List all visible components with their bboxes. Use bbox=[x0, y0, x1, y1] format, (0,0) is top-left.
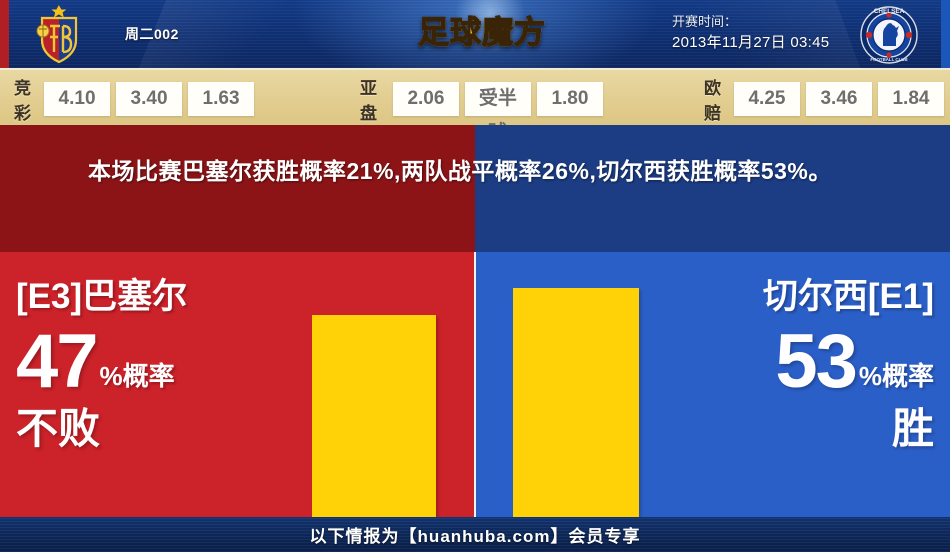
odds-cell-yapan-home[interactable]: 2.06 bbox=[393, 82, 459, 116]
left-percent-row: 47 %概率 bbox=[16, 324, 298, 400]
odds-cell-oupei-away[interactable]: 1.84 bbox=[878, 82, 944, 116]
svg-text:FOOTBALL CLUB: FOOTBALL CLUB bbox=[870, 57, 907, 62]
left-percent-suffix: %概率 bbox=[97, 359, 175, 400]
odds-cell-yapan-away[interactable]: 1.80 bbox=[537, 82, 603, 116]
header-bar: 周二002 足球魔方 开赛时间： 2013年11月27日 03:45 CHELS… bbox=[0, 0, 950, 68]
kickoff-label: 开赛时间： bbox=[672, 11, 829, 32]
summary-text: 本场比赛巴塞尔获胜概率21%,两队战平概率26%,切尔西获胜概率53%。 bbox=[88, 152, 888, 190]
right-team-block: 切尔西[E1] 53 %概率 胜 bbox=[652, 276, 934, 454]
odds-cell-jingcai-home[interactable]: 4.10 bbox=[44, 82, 110, 116]
odds-group-oupei: 欧赔 4.25 3.46 1.84 bbox=[704, 74, 950, 124]
bar-away-chelsea bbox=[513, 288, 639, 517]
kickoff-block: 开赛时间： 2013年11月27日 03:45 bbox=[672, 11, 829, 53]
header-right-blue-stripe bbox=[941, 0, 950, 68]
left-verdict: 不败 bbox=[16, 404, 298, 454]
brand-logo: 足球魔方 bbox=[408, 8, 556, 58]
brand-logo-text: 足球魔方 bbox=[418, 18, 546, 49]
footer-bar: 以下情报为【huanhuba.com】会员专享 bbox=[0, 517, 950, 552]
chart-center-divider bbox=[474, 252, 476, 517]
left-percent-value: 47 bbox=[16, 324, 97, 400]
odds-cell-oupei-home[interactable]: 4.25 bbox=[734, 82, 800, 116]
odds-label-jingcai: 竞彩 bbox=[14, 74, 35, 124]
match-number: 周二002 bbox=[125, 24, 179, 44]
basel-crest-icon bbox=[26, 4, 92, 66]
right-verdict: 胜 bbox=[652, 404, 934, 454]
header-left-red-stripe bbox=[0, 0, 9, 68]
bar-home-basel bbox=[312, 315, 436, 517]
right-percent-row: 53 %概率 bbox=[652, 324, 934, 400]
odds-cell-jingcai-draw[interactable]: 3.40 bbox=[116, 82, 182, 116]
odds-label-oupei: 欧赔 bbox=[704, 74, 725, 124]
odds-bar: 竞彩 4.10 3.40 1.63 亚盘 2.06 受半球 1.80 欧赔 4.… bbox=[0, 68, 950, 129]
odds-label-yapan: 亚盘 bbox=[360, 74, 384, 124]
kickoff-value: 2013年11月27日 03:45 bbox=[672, 32, 829, 53]
chelsea-crest-icon: CHELSEA FOOTBALL CLUB bbox=[856, 4, 922, 66]
right-team-name: 切尔西[E1] bbox=[652, 276, 934, 318]
odds-group-yapan: 亚盘 2.06 受半球 1.80 bbox=[360, 74, 609, 124]
match-probability-infographic: 周二002 足球魔方 开赛时间： 2013年11月27日 03:45 CHELS… bbox=[0, 0, 950, 552]
svg-text:CHELSEA: CHELSEA bbox=[874, 8, 905, 15]
left-team-block: [E3]巴塞尔 47 %概率 不败 bbox=[16, 276, 298, 454]
odds-cell-oupei-draw[interactable]: 3.46 bbox=[806, 82, 872, 116]
odds-cell-jingcai-away[interactable]: 1.63 bbox=[188, 82, 254, 116]
odds-cell-yapan-handicap[interactable]: 受半球 bbox=[465, 82, 531, 116]
left-team-name: [E3]巴塞尔 bbox=[16, 276, 298, 318]
right-percent-suffix: %概率 bbox=[856, 359, 934, 400]
footer-text: 以下情报为【huanhuba.com】会员专享 bbox=[310, 522, 641, 547]
odds-group-jingcai: 竞彩 4.10 3.40 1.63 bbox=[14, 74, 260, 124]
right-percent-value: 53 bbox=[775, 324, 856, 400]
probability-bar-chart: [E3]巴塞尔 47 %概率 不败 切尔西[E1] 53 %概率 胜 bbox=[0, 252, 950, 517]
